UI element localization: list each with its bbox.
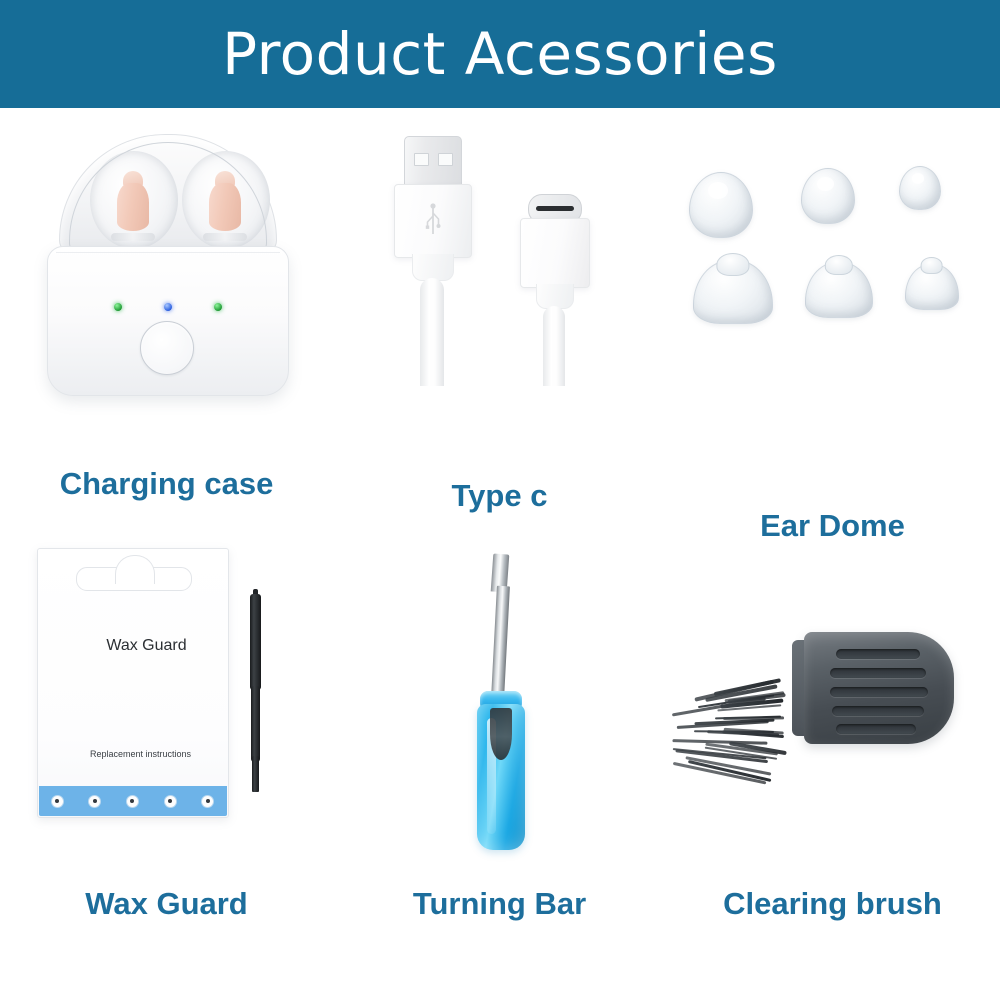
ear-dome-bell-medium bbox=[805, 262, 873, 318]
ear-dome-round-medium bbox=[801, 168, 855, 224]
usb-a-connector bbox=[394, 136, 470, 386]
usb-c-connector bbox=[520, 194, 588, 386]
page-title: Product Acessories bbox=[222, 25, 778, 83]
package-title-text: Wax Guard bbox=[38, 637, 228, 655]
accessory-label-ear-dome: Ear Dome bbox=[666, 508, 999, 544]
wax-guard-slot bbox=[51, 795, 64, 808]
hearing-aid-left bbox=[113, 171, 153, 237]
led-indicator-blue-center bbox=[164, 303, 172, 311]
screwdriver-inner-core bbox=[490, 708, 512, 760]
lid-recess-right bbox=[182, 151, 270, 249]
charging-case-icon bbox=[0, 128, 333, 448]
brush-handle bbox=[804, 632, 954, 744]
accessory-label-clearing-brush: Clearing brush bbox=[666, 886, 999, 922]
accessory-label-wax-guard: Wax Guard bbox=[0, 886, 333, 922]
wax-guard-slot bbox=[201, 795, 214, 808]
brush-grip-slot bbox=[832, 706, 924, 716]
ear-dome-bell-small bbox=[905, 264, 959, 310]
usb-c-cord bbox=[543, 306, 565, 386]
led-indicator-green-right bbox=[214, 303, 222, 311]
accessory-item-clearing-brush[interactable]: Clearing brush bbox=[666, 548, 999, 968]
screwdriver-shaft bbox=[491, 586, 510, 699]
accessory-row-1: Charging case bbox=[0, 128, 1000, 548]
usb-a-cord bbox=[420, 278, 444, 386]
led-indicator-green-left bbox=[114, 303, 122, 311]
hearing-aid-right bbox=[205, 171, 245, 237]
accessory-item-turning-bar[interactable]: Turning Bar bbox=[333, 548, 666, 968]
ear-dome-bell-large bbox=[693, 260, 773, 324]
case-power-button[interactable] bbox=[140, 321, 194, 375]
wax-guard-slot bbox=[164, 795, 177, 808]
ear-dome-round-small bbox=[899, 166, 941, 210]
wax-guard-package: Wax Guard Replacement instructions bbox=[37, 548, 229, 818]
accessory-row-2: Wax Guard Replacement instructions bbox=[0, 548, 1000, 968]
brush-grip-slot bbox=[836, 724, 916, 734]
brush-grip-slot bbox=[830, 687, 928, 697]
accessory-label-type-c: Type c bbox=[333, 478, 666, 514]
brush-grip-slot bbox=[836, 649, 920, 659]
cleaning-brush-icon bbox=[666, 548, 999, 868]
package-hang-hole bbox=[76, 567, 192, 591]
case-body bbox=[47, 246, 289, 396]
accessory-item-type-c-cable[interactable]: Type c bbox=[333, 128, 666, 548]
wax-guard-strip bbox=[39, 786, 227, 816]
package-subtitle-text: Replacement instructions bbox=[38, 749, 228, 759]
wax-guard-slot bbox=[126, 795, 139, 808]
accessory-label-turning-bar: Turning Bar bbox=[333, 886, 666, 922]
wax-guard-icon: Wax Guard Replacement instructions bbox=[0, 548, 333, 868]
accessory-label-charging-case: Charging case bbox=[0, 466, 333, 502]
ear-dome-round-large bbox=[689, 172, 753, 238]
case-lid bbox=[59, 134, 277, 254]
wax-guard-rod-tool bbox=[250, 594, 261, 792]
brush-bristle bbox=[672, 739, 767, 745]
accessory-item-ear-dome[interactable]: Ear Dome bbox=[666, 128, 999, 548]
lid-recess-left bbox=[90, 151, 178, 249]
usb-trident-icon bbox=[425, 203, 441, 237]
usb-cable-icon bbox=[333, 128, 666, 448]
brush-grip-slot bbox=[830, 668, 926, 678]
accessory-item-wax-guard[interactable]: Wax Guard Replacement instructions bbox=[0, 548, 333, 968]
accessory-item-charging-case[interactable]: Charging case bbox=[0, 128, 333, 548]
screwdriver-icon bbox=[333, 548, 666, 868]
accessory-grid: Charging case bbox=[0, 108, 1000, 1000]
page-header-banner: Product Acessories bbox=[0, 0, 1000, 108]
wax-guard-slot bbox=[88, 795, 101, 808]
ear-dome-icon bbox=[666, 128, 999, 448]
